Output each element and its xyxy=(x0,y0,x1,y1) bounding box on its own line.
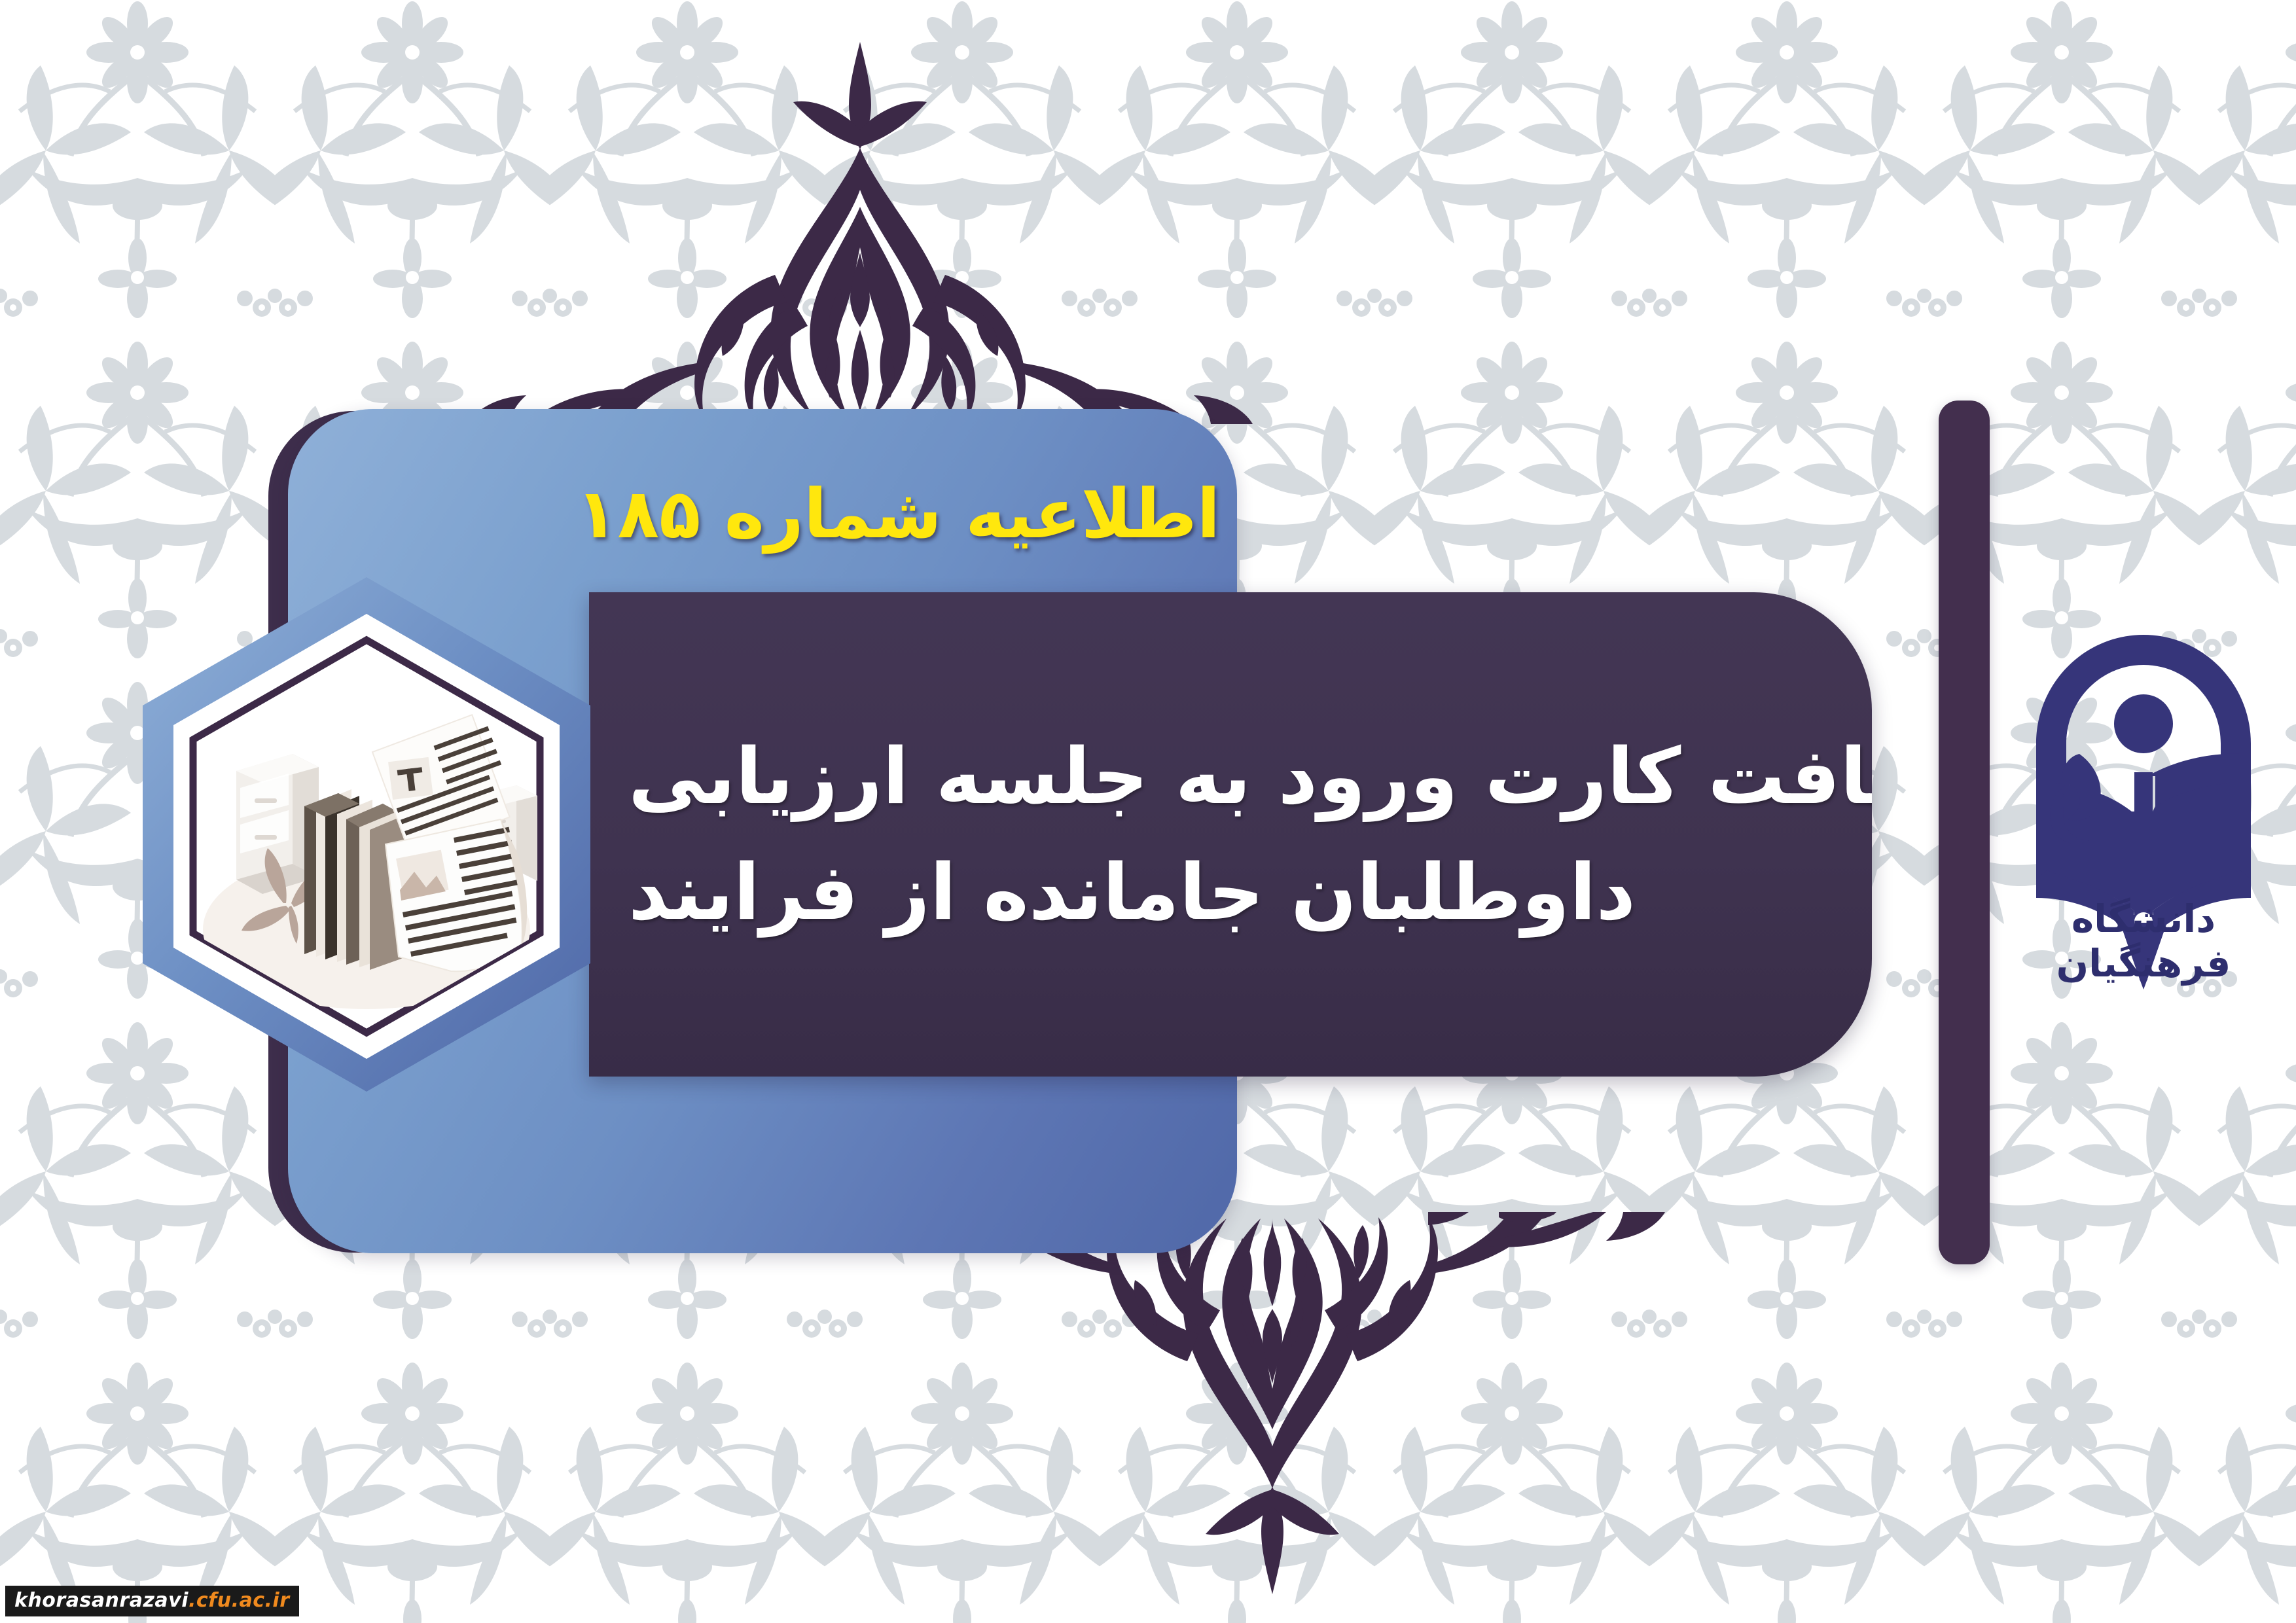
poster-canvas: اطلاعیه شماره ۱۸۵ دریافت کارت ورود به جل… xyxy=(0,0,2296,1623)
persian-floral-ornament-top-icon xyxy=(448,31,1272,437)
decorative-vertical-bar xyxy=(1939,401,1990,1264)
headline-line-2: داوطلبان جامانده از فرایند xyxy=(628,834,1636,950)
watermark-site: khorasanrazavi xyxy=(14,1589,188,1612)
announcement-badge-label: اطلاعیه شماره ۱۸۵ xyxy=(576,474,1220,554)
organization-name: دانشگاه فرهنگیان xyxy=(2013,897,2274,986)
site-watermark: khorasanrazavi.cfu.ac.ir xyxy=(5,1586,299,1616)
headline-line-1: دریافت کارت ورود به جلسه ارزیابی xyxy=(628,719,1872,834)
persian-floral-ornament-bottom-icon xyxy=(860,1199,1685,1605)
hexagon-badge xyxy=(108,563,625,1106)
announcement-badge: اطلاعیه شماره ۱۸۵ xyxy=(576,452,1244,576)
watermark-domain: .cfu.ac.ir xyxy=(188,1589,290,1612)
headline-panel: دریافت کارت ورود به جلسه ارزیابی داوطلبا… xyxy=(589,592,1872,1077)
